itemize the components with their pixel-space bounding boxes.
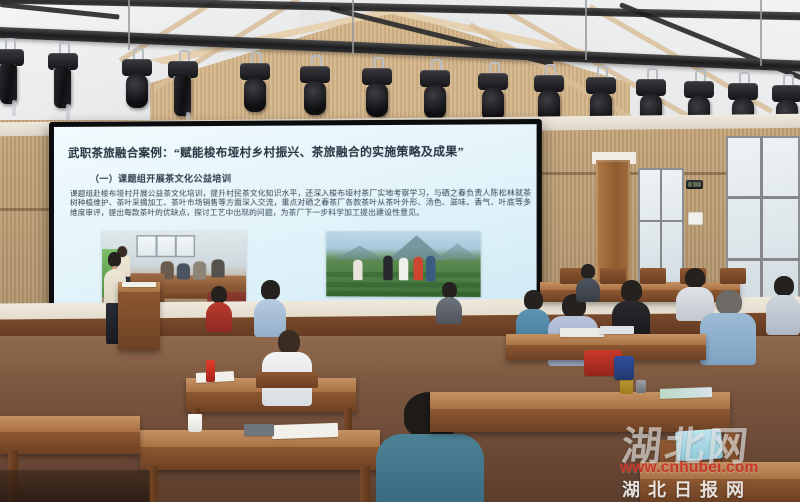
- chair: [256, 372, 318, 388]
- photo-person: [399, 258, 408, 281]
- screenshot-root: 武职茶旅融合案例：“赋能梭布垭村乡村振兴、茶旅融合的实施策略及成果” （一）课题…: [0, 0, 800, 502]
- attendee: [516, 290, 550, 340]
- truss-drop-rod: [128, 0, 130, 50]
- paper-sheet: [660, 387, 712, 399]
- wall-trim-line: [0, 208, 50, 211]
- stage-light: [240, 52, 270, 118]
- photo-window: [136, 235, 195, 257]
- paper-sheet: [272, 423, 338, 439]
- desk-row-front-left: [140, 430, 380, 470]
- paper-sheet: [560, 328, 604, 337]
- bag-on-chair: [614, 356, 634, 380]
- photo-person: [211, 259, 224, 277]
- photo-mountain: [335, 245, 385, 259]
- photo-person: [383, 256, 392, 281]
- stage-light: [122, 48, 152, 114]
- notebook: [600, 326, 634, 334]
- attendee: [766, 276, 800, 332]
- photo-mountain: [434, 244, 480, 260]
- stage-light: [300, 55, 330, 121]
- wall-outlet-icon: [688, 212, 703, 225]
- podium: [118, 282, 160, 350]
- attendee: [254, 280, 286, 336]
- metal-cup: [636, 380, 646, 393]
- light-body: [0, 64, 17, 104]
- truss-drop-rod: [585, 0, 587, 60]
- paper-sheet: [196, 371, 234, 383]
- attendee: [576, 264, 600, 300]
- truss-drop-rod: [760, 0, 762, 66]
- desk-row-front-far-left: [0, 416, 140, 454]
- photo-person: [414, 257, 423, 281]
- foreground-shadow: [0, 470, 150, 502]
- slide-title: 武职茶旅融合案例：“赋能梭布垭村乡村振兴、茶旅融合的实施策略及成果”: [68, 143, 533, 161]
- desk-row-foreground-right: [640, 462, 800, 502]
- wall-speaker-icon: [686, 180, 703, 189]
- attendee: [262, 330, 312, 404]
- photo-person: [177, 263, 190, 279]
- stage-light: [48, 42, 78, 108]
- slide-subtitle: （一）课题组开展茶文化公益培训: [90, 171, 231, 184]
- stage-light: [362, 57, 392, 123]
- thermos-bottle: [206, 360, 215, 382]
- presenter-head: [108, 252, 121, 267]
- chair: [720, 268, 746, 284]
- attendee: [206, 286, 232, 330]
- truss-drop-rod: [352, 0, 354, 54]
- attendee: [436, 282, 462, 322]
- stage-light: [168, 50, 198, 116]
- photo-person: [193, 261, 206, 279]
- podium-papers: [122, 282, 156, 287]
- slide-body-text: 课题组赴梭布垭村开展公益茶文化培训，提升村民茶文化知识水平，还深入梭布垭村茶厂实…: [70, 188, 531, 217]
- stage-light: [0, 38, 24, 104]
- stage-light: [420, 59, 450, 125]
- desk-leg: [360, 466, 370, 502]
- tablet-device[interactable]: [244, 424, 274, 436]
- photo-person: [353, 260, 362, 280]
- paper-cup: [188, 414, 202, 432]
- attendee: [700, 290, 756, 362]
- towel-on-chair: [675, 428, 723, 461]
- photo-person: [426, 256, 435, 282]
